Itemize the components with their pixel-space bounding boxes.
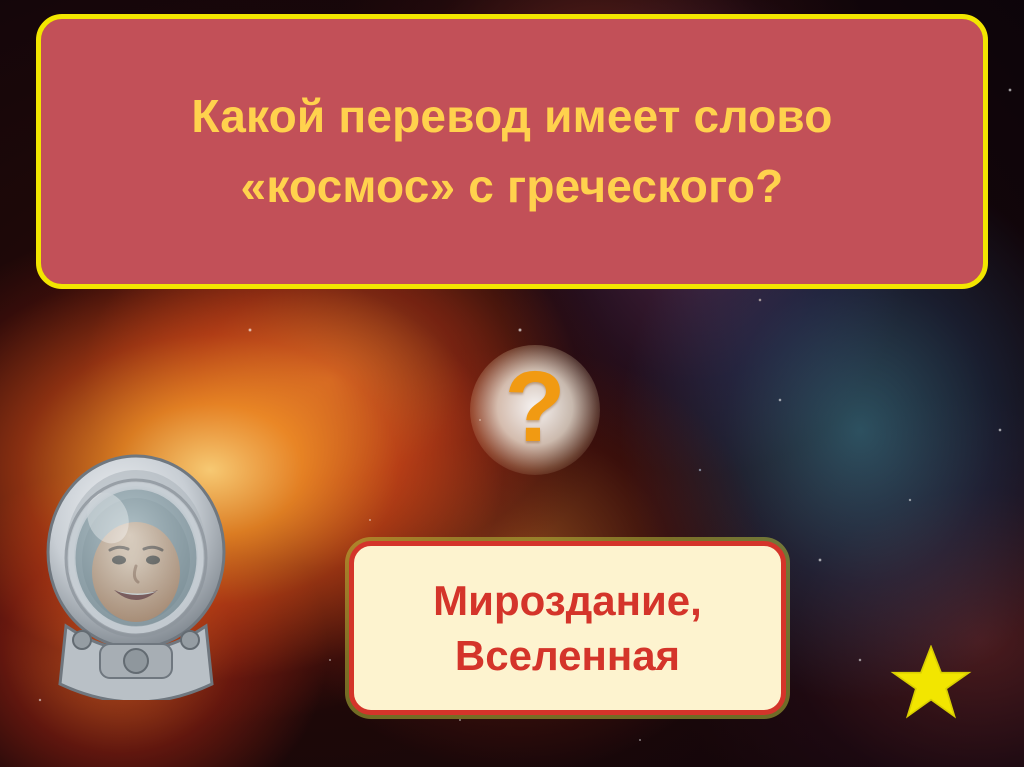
question-mark-icon: ? <box>470 345 600 475</box>
cosmonaut-portrait-icon <box>30 440 250 700</box>
question-panel: Какой перевод имеет слово «космос» с гре… <box>36 14 988 289</box>
question-text: Какой перевод имеет слово «космос» с гре… <box>87 82 937 222</box>
six-point-star-icon <box>888 645 974 729</box>
answer-panel[interactable]: Мироздание, Вселенная <box>349 541 786 715</box>
question-mark-glyph: ? <box>504 357 565 457</box>
slide-stage: ? Какой перевод имеет слово «космос» с г… <box>0 0 1024 767</box>
answer-text: Мироздание, Вселенная <box>354 573 781 684</box>
